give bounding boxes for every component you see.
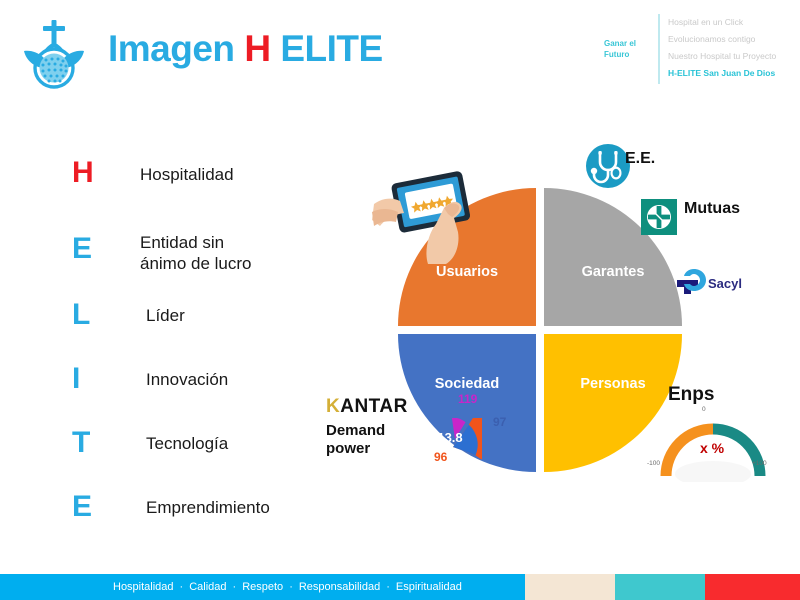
value-letter-h: H xyxy=(72,158,94,188)
claim-item-1: Evolucionamos contigo xyxy=(668,31,798,48)
stakeholder-label-mutuas: Mutuas xyxy=(684,200,740,218)
san-juan-de-dios-pomegranate-logo-icon xyxy=(22,16,86,94)
value-letter-e2: E xyxy=(72,492,92,522)
footer-segment-teal xyxy=(615,574,705,600)
footer-item-0: Hospitalidad xyxy=(113,581,174,593)
gauge-tick-zero: 0 xyxy=(702,406,706,413)
wheel-label-garantes: Garantes xyxy=(544,264,682,280)
footer-item-4: Espiritualidad xyxy=(396,581,462,593)
kantar-subtitle-line1: Demand xyxy=(326,422,436,440)
footer-segment-cream xyxy=(525,574,615,600)
footer-values-text: Hospitalidad·Calidad·Respeto·Responsabil… xyxy=(110,574,465,600)
demand-power-pie-chart xyxy=(424,418,482,476)
claim-list: Hospital en un Click Evolucionamos conti… xyxy=(668,14,798,82)
footer-sep-1: · xyxy=(233,581,237,593)
sacyl-logo-icon xyxy=(673,263,709,299)
claim-slogan: Ganar el Futuro xyxy=(604,38,650,60)
gauge-tick-min: -100 xyxy=(647,460,660,467)
claim-item-2: Nuestro Hospital tu Proyecto xyxy=(668,48,798,65)
pie-value-119: 119 xyxy=(458,392,477,406)
value-letter-i: I xyxy=(72,364,80,394)
enps-title: Enps xyxy=(668,384,714,406)
footer-item-1: Calidad xyxy=(189,581,226,593)
value-label-lider: Líder xyxy=(146,305,185,326)
pie-value-97: 97 xyxy=(493,415,506,429)
page-title-highlight: H xyxy=(244,28,270,69)
stakeholder-label-ee: E.E. xyxy=(625,150,655,168)
kantar-wordmark-k: K xyxy=(326,396,340,417)
value-label-tecnologia: Tecnología xyxy=(146,433,228,454)
claim-item-3: H-ELITE San Juan De Dios xyxy=(668,65,798,82)
claim-divider xyxy=(658,14,660,84)
footer-sep-3: · xyxy=(386,581,390,593)
footer-segment-red xyxy=(705,574,800,600)
kantar-wordmark: KANTAR xyxy=(326,396,436,418)
page-title: Imagen H ELITE xyxy=(108,28,383,70)
page-title-prefix: Imagen xyxy=(108,28,244,69)
claim-block: Ganar el Futuro Hospital en un Click Evo… xyxy=(604,8,794,90)
enps-value: x % xyxy=(682,440,742,456)
claim-item-0: Hospital en un Click xyxy=(668,14,798,31)
stethoscope-icon xyxy=(586,144,630,188)
value-label-hospitalidad: Hospitalidad xyxy=(140,164,234,185)
enps-block: Enps 0 -100 +100 x % xyxy=(640,384,790,484)
footer-item-3: Responsabilidad xyxy=(299,581,380,593)
medical-cross-icon xyxy=(641,199,677,235)
value-label-emprendimiento: Emprendimiento xyxy=(146,497,270,518)
kantar-wordmark-rest: ANTAR xyxy=(340,396,408,417)
kantar-subtitle: Demand power xyxy=(326,422,436,458)
value-letter-e1: E xyxy=(72,234,92,264)
tablet-rating-hands-illustration-icon xyxy=(372,168,502,278)
value-label-innovacion: Innovación xyxy=(146,369,228,390)
footer-sep-2: · xyxy=(289,581,293,593)
value-label-entidad-line1: Entidad sin xyxy=(140,232,224,253)
footer-item-2: Respeto xyxy=(242,581,283,593)
pie-center-value: 13.8 xyxy=(424,430,476,445)
value-letter-l: L xyxy=(72,300,90,330)
slide-canvas: Imagen H ELITE Ganar el Futuro Hospital … xyxy=(0,0,800,600)
gauge-tick-max: +100 xyxy=(752,460,767,467)
pie-value-96: 96 xyxy=(434,450,447,464)
wheel-label-sociedad: Sociedad xyxy=(398,376,536,392)
stakeholder-label-sacyl: Sacyl xyxy=(708,276,742,291)
value-label-entidad-line2: ánimo de lucro xyxy=(140,253,252,274)
value-letter-t: T xyxy=(72,428,90,458)
kantar-block: KANTAR Demand power xyxy=(326,396,436,458)
footer-sep-0: · xyxy=(180,581,184,593)
footer-bar: Hospitalidad·Calidad·Respeto·Responsabil… xyxy=(0,574,800,600)
kantar-subtitle-line2: power xyxy=(326,440,436,458)
page-title-suffix: ELITE xyxy=(271,28,383,69)
